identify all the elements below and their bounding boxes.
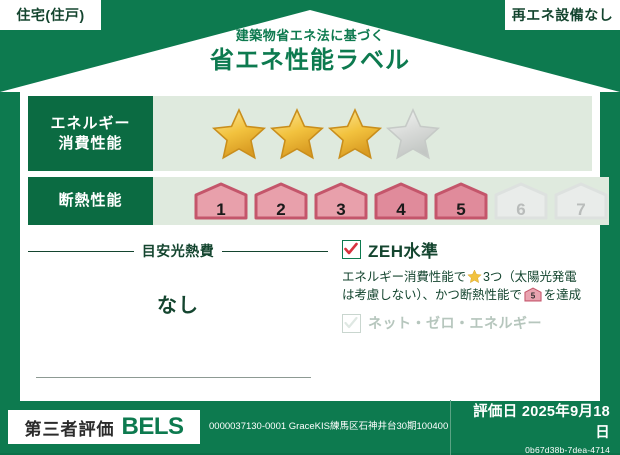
footer-evaluation-info: 評価日 2025年9月18日 0b67d38b-7dea-4714 [450, 400, 610, 455]
bels-logo-en: BELS [121, 413, 183, 441]
zeh-desc-part3: は考慮しない）、かつ断熱性能で [342, 288, 522, 302]
insulation-label-text: 断熱性能 [58, 191, 122, 211]
zeh-description: エネルギー消費性能で 3つ（太陽光発電 は考慮しない）、かつ断熱性能で 5 を達… [342, 268, 592, 304]
utility-cost-heading: 目安光熱費 [28, 241, 328, 261]
footer-date-value: 2025年9月18日 [522, 404, 610, 441]
lower-section: 目安光熱費 なし ZEH水準 エネルギー消費性能で [28, 235, 592, 400]
energy-performance-label: エネルギー 消費性能 [28, 96, 153, 171]
inline-star-icon [467, 269, 482, 284]
zeh-heading-row: ZEH水準 [342, 237, 592, 262]
label-footer: 第三者評価 BELS 0000037130-0001 GraceKIS練馬区石神… [0, 401, 620, 453]
star-filled-icon [327, 107, 383, 161]
net-zero-energy-row: ネット・ゼロ・エネルギー [342, 313, 592, 333]
insulation-level-number: 7 [553, 201, 609, 218]
net-zero-energy-label: ネット・ゼロ・エネルギー [368, 313, 542, 333]
bels-logo: 第三者評価 BELS [8, 410, 200, 444]
insulation-level-number: 4 [373, 201, 429, 218]
footer-hash: 0b67d38b-7dea-4714 [463, 445, 610, 455]
footer-building-id: 0000037130-0001 GraceKIS練馬区石神井台30期100400 [209, 420, 450, 434]
insulation-performance-value: 1234567 [153, 177, 609, 225]
badge-building-type: 住宅(住戸) [0, 0, 101, 30]
inline-badge-number: 5 [531, 292, 536, 301]
insulation-level-number: 1 [193, 201, 249, 218]
inline-insulation-badge: 5 [524, 287, 542, 302]
title-subtitle: 建築物省エネ法に基づく [0, 28, 620, 44]
footer-date-label: 評価日 [473, 404, 517, 420]
star-filled-icon [211, 107, 267, 161]
energy-performance-row: エネルギー 消費性能 [28, 96, 592, 171]
star-filled-icon [269, 107, 325, 161]
insulation-level-number: 3 [313, 201, 369, 218]
badge-renewable-equipment: 再エネ設備なし [505, 0, 620, 30]
net-zero-checkbox-unchecked-icon [342, 314, 361, 333]
utility-cost-section: 目安光熱費 なし [28, 235, 328, 400]
utility-cost-value: なし [28, 289, 328, 318]
zeh-desc-part1: エネルギー消費性能で [342, 270, 466, 284]
heading-rule-right [222, 251, 328, 252]
utility-cost-heading-text: 目安光熱費 [134, 241, 223, 261]
footer-date-line: 評価日 2025年9月18日 [463, 400, 610, 442]
insulation-level-1: 1 [193, 182, 249, 220]
insulation-level-4: 4 [373, 182, 429, 220]
energy-performance-value [153, 96, 592, 171]
insulation-performance-label: 断熱性能 [28, 177, 153, 225]
zeh-desc-part4: を達成 [544, 288, 581, 302]
title-main: 省エネ性能ラベル [0, 47, 620, 75]
star-empty-icon [385, 107, 441, 161]
insulation-level-number: 6 [493, 201, 549, 218]
insulation-level-number: 2 [253, 201, 309, 218]
bels-logo-jp: 第三者評価 [24, 415, 114, 440]
label-title: 建築物省エネ法に基づく 省エネ性能ラベル [0, 28, 620, 74]
insulation-level-5: 5 [433, 182, 489, 220]
energy-label-line1: エネルギー [50, 114, 130, 134]
insulation-level-7: 7 [553, 182, 609, 220]
zeh-desc-part2: 3つ（太陽光発電 [483, 270, 577, 284]
star-rating [211, 107, 441, 161]
heading-rule-left [28, 251, 134, 252]
zeh-checkbox-checked-icon [342, 240, 361, 259]
utility-cost-underline [36, 377, 311, 378]
insulation-level-scale: 1234567 [193, 182, 609, 220]
insulation-level-3: 3 [313, 182, 369, 220]
label-body-card: エネルギー 消費性能 断熱性能 1234567 目安光熱費 [20, 88, 600, 401]
energy-label-line2: 消費性能 [58, 134, 122, 154]
insulation-level-6: 6 [493, 182, 549, 220]
zeh-title: ZEH水準 [368, 237, 439, 262]
insulation-level-2: 2 [253, 182, 309, 220]
energy-performance-label: 住宅(住戸) 再エネ設備なし 建築物省エネ法に基づく 省エネ性能ラベル エネルギ… [0, 0, 620, 453]
insulation-level-number: 5 [433, 201, 489, 218]
insulation-performance-row: 断熱性能 1234567 [28, 177, 592, 225]
zeh-section: ZEH水準 エネルギー消費性能で 3つ（太陽光発電 は考慮しない）、かつ断熱性能… [328, 235, 592, 400]
